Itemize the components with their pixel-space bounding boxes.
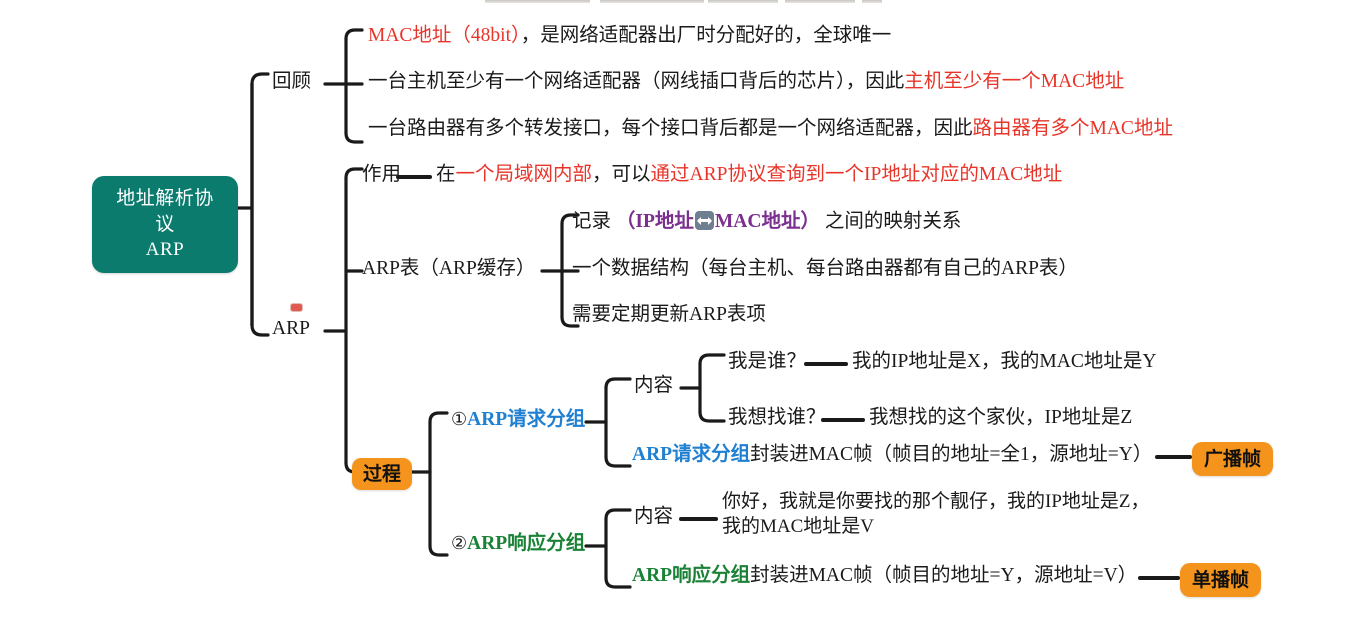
process-pill-label: 过程 bbox=[363, 463, 401, 485]
arp-response-number: ② bbox=[451, 533, 467, 554]
branch-review-label: 回顾 bbox=[272, 71, 311, 92]
review-item-router-interfaces[interactable]: 一台路由器有多个转发接口，每个接口背后都是一个网络适配器，因此路由器有多个MAC… bbox=[368, 117, 1173, 142]
arp-function-seg-1: 在 bbox=[436, 164, 456, 185]
arp-table-data-structure[interactable]: 一个数据结构（每台主机、每台路由器都有自己的ARP表） bbox=[572, 257, 1078, 282]
arp-response-content-text[interactable]: 你好，我就是你要找的那个靓仔，我的IP地址是Z，我的MAC地址是V bbox=[722, 490, 1162, 539]
arp-request-label: ARP请求分组 bbox=[467, 409, 585, 430]
mindmap-canvas: 地址解析协议 ARP 回顾 ARP MAC地址（48bit），是网络适配器出厂时… bbox=[0, 0, 1345, 620]
host-adapter-highlight: 主机至少有一个MAC地址 bbox=[904, 71, 1124, 92]
arp-function-seg-3: ，可以 bbox=[592, 164, 651, 185]
toolbar-remnant-3 bbox=[632, 0, 704, 3]
arp-table-label[interactable]: ARP表（ARP缓存） bbox=[362, 257, 535, 282]
mapping-record-prefix: 记录 bbox=[572, 211, 611, 232]
arp-request-a2-text: 我想找的这个家伙，IP地址是Z bbox=[869, 407, 1132, 428]
arp-table-periodic-update[interactable]: 需要定期更新ARP表项 bbox=[572, 303, 766, 328]
toolbar-remnant-4 bbox=[708, 0, 778, 3]
arp-request-content-label-text: 内容 bbox=[634, 375, 673, 396]
toolbar-remnant-6 bbox=[862, 0, 882, 3]
data-structure-text: 一个数据结构（每台主机、每台路由器都有自己的ARP表） bbox=[572, 258, 1078, 279]
arp-table-label-text: ARP表（ARP缓存） bbox=[362, 258, 535, 279]
red-marker-icon bbox=[291, 304, 302, 311]
arp-table-mapping-record[interactable]: 记录 （IP地址MAC地址） 之间的映射关系 bbox=[572, 210, 961, 235]
toolbar-remnant-1 bbox=[485, 0, 590, 3]
router-interfaces-text: 一台路由器有多个转发接口，每个接口背后都是一个网络适配器，因此 bbox=[368, 118, 973, 139]
arp-response-node[interactable]: ②ARP响应分组 bbox=[451, 532, 585, 557]
arp-function-seg-4: 通过ARP协议查询到一个IP地址对应的MAC地址 bbox=[651, 164, 1063, 185]
arp-request-a1[interactable]: 我的IP地址是X，我的MAC地址是Y bbox=[852, 350, 1156, 375]
arp-request-encapsulation[interactable]: ARP请求分组封装进MAC帧（帧目的地址=全1，源地址=Y） bbox=[632, 443, 1152, 468]
arp-function-label[interactable]: 作用 bbox=[362, 163, 401, 188]
router-interfaces-highlight: 路由器有多个MAC地址 bbox=[973, 118, 1173, 139]
review-item-mac-address[interactable]: MAC地址（48bit），是网络适配器出厂时分配好的，全球唯一 bbox=[368, 24, 891, 49]
arp-request-a1-text: 我的IP地址是X，我的MAC地址是Y bbox=[852, 351, 1156, 372]
arp-response-encap-highlight: ARP响应分组 bbox=[632, 565, 750, 586]
arp-request-q2-text: 我想找谁？ bbox=[728, 407, 826, 428]
toolbar-remnant-5 bbox=[785, 0, 855, 3]
arp-request-a2[interactable]: 我想找的这个家伙，IP地址是Z bbox=[869, 406, 1132, 431]
arp-response-encap-text: 封装进MAC帧（帧目的地址=Y，源地址=V） bbox=[750, 565, 1137, 586]
process-pill[interactable]: 过程 bbox=[352, 458, 412, 490]
periodic-update-text: 需要定期更新ARP表项 bbox=[572, 304, 766, 325]
branch-review[interactable]: 回顾 bbox=[272, 70, 311, 95]
mapping-record-suffix: 之间的映射关系 bbox=[825, 211, 962, 232]
mapping-record-ip: （IP地址 bbox=[616, 211, 694, 232]
review-item-host-adapter[interactable]: 一台主机至少有一个网络适配器（网线插口背后的芯片），因此主机至少有一个MAC地址 bbox=[368, 70, 1124, 95]
host-adapter-text: 一台主机至少有一个网络适配器（网线插口背后的芯片），因此 bbox=[368, 71, 904, 92]
arp-function-label-text: 作用 bbox=[362, 164, 401, 185]
arp-request-q2[interactable]: 我想找谁？ bbox=[728, 406, 826, 431]
arp-request-q1-text: 我是谁？ bbox=[728, 351, 806, 372]
arp-request-node[interactable]: ①ARP请求分组 bbox=[451, 408, 585, 433]
broadcast-frame-badge-label: 广播帧 bbox=[1204, 448, 1261, 470]
mapping-record-mac: MAC地址） bbox=[715, 211, 820, 232]
root-node[interactable]: 地址解析协议 ARP bbox=[92, 176, 238, 273]
branch-arp-label: ARP bbox=[272, 318, 310, 339]
unicast-frame-badge[interactable]: 单播帧 bbox=[1180, 563, 1261, 597]
arp-request-content-label[interactable]: 内容 bbox=[634, 374, 673, 399]
arp-response-content-body: 你好，我就是你要找的那个靓仔，我的IP地址是Z，我的MAC地址是V bbox=[722, 491, 1150, 537]
arp-response-label: ARP响应分组 bbox=[467, 533, 585, 554]
unicast-frame-badge-label: 单播帧 bbox=[1192, 569, 1249, 591]
arp-response-encapsulation[interactable]: ARP响应分组封装进MAC帧（帧目的地址=Y，源地址=V） bbox=[632, 564, 1137, 589]
arp-function-text[interactable]: 在一个局域网内部，可以通过ARP协议查询到一个IP地址对应的MAC地址 bbox=[436, 163, 1062, 188]
arp-response-content-label[interactable]: 内容 bbox=[634, 505, 673, 530]
arp-response-content-label-text: 内容 bbox=[634, 506, 673, 527]
arp-request-encap-highlight: ARP请求分组 bbox=[632, 444, 750, 465]
arp-request-encap-text: 封装进MAC帧（帧目的地址=全1，源地址=Y） bbox=[750, 444, 1152, 465]
mac-address-highlight: MAC地址（48bit） bbox=[368, 25, 521, 46]
arp-request-number: ① bbox=[451, 409, 467, 430]
mac-address-rest: ，是网络适配器出厂时分配好的，全球唯一 bbox=[521, 25, 892, 46]
swap-arrow-icon bbox=[695, 211, 714, 230]
arp-request-q1[interactable]: 我是谁？ bbox=[728, 350, 806, 375]
broadcast-frame-badge[interactable]: 广播帧 bbox=[1192, 442, 1273, 476]
arp-function-seg-2: 一个局域网内部 bbox=[456, 164, 593, 185]
branch-arp[interactable]: ARP bbox=[272, 317, 310, 342]
